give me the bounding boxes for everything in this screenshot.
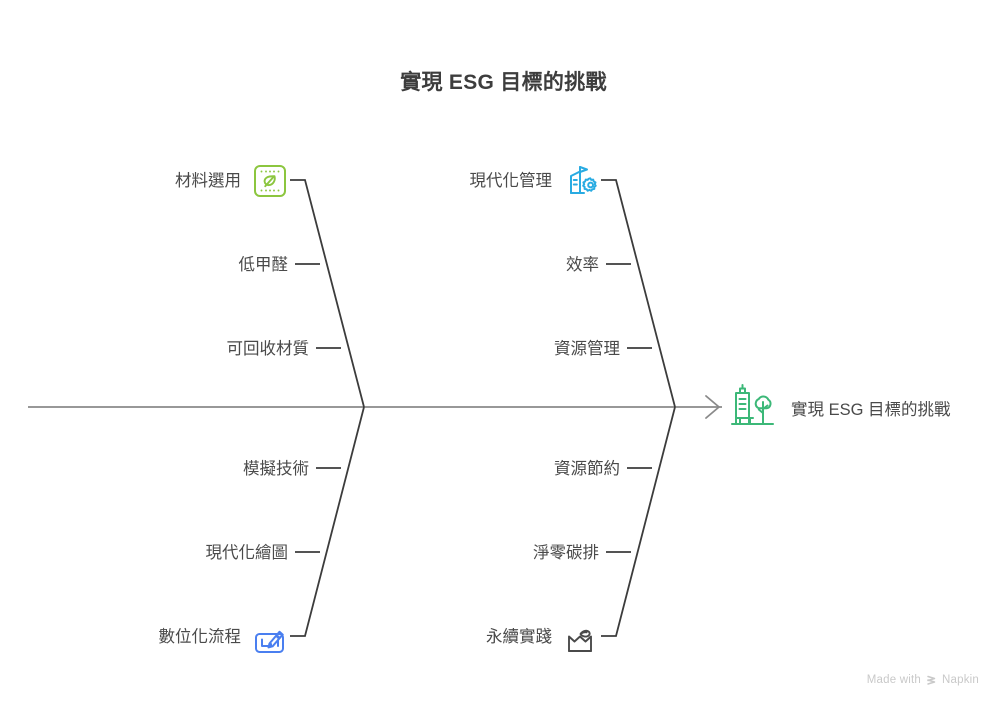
watermark: Made with Napkin — [867, 673, 979, 686]
branch-line-lower-left — [290, 407, 364, 636]
branch-node-label-net-zero: 淨零碳排 — [533, 545, 599, 562]
drawing-tablet-icon — [250, 619, 290, 659]
branch-node-label-resource-saving: 資源節約 — [554, 461, 620, 478]
branch-line-upper-right — [601, 180, 675, 407]
branch-node-label-digital-process: 數位化流程 — [159, 629, 242, 646]
fishbone-svg — [0, 0, 1007, 702]
watermark-prefix: Made with — [867, 674, 921, 686]
leaf-frame-icon — [251, 162, 289, 200]
building-tree-icon — [726, 380, 782, 434]
branch-node-label-resource-management: 資源管理 — [554, 341, 620, 358]
branch-node-label-efficiency: 效率 — [566, 257, 599, 274]
napkin-chevrons-icon — [925, 673, 938, 686]
branch-node-label-recyclable: 可回收材質 — [227, 341, 310, 358]
branch-node-label-materials: 材料選用 — [175, 173, 241, 190]
head-label: 實現 ESG 目標的挑戰 — [791, 396, 951, 420]
branch-line-upper-left — [290, 180, 364, 407]
building-gear-icon — [562, 161, 602, 201]
branch-line-lower-right — [601, 407, 675, 636]
branch-node-label-modern-drawing: 現代化繪圖 — [206, 545, 289, 562]
fishbone-diagram: 實現 ESG 目標的挑戰 材料選用 — [0, 0, 1007, 702]
watermark-brand: Napkin — [942, 674, 979, 686]
branch-node-label-modern-management: 現代化管理 — [470, 173, 553, 190]
factory-icon — [561, 619, 605, 659]
branch-node-label-sustainable-practice: 永續實踐 — [486, 629, 552, 646]
branch-node-label-simulation: 模擬技術 — [243, 461, 309, 478]
branch-node-label-low-formaldehyde: 低甲醛 — [239, 257, 289, 274]
